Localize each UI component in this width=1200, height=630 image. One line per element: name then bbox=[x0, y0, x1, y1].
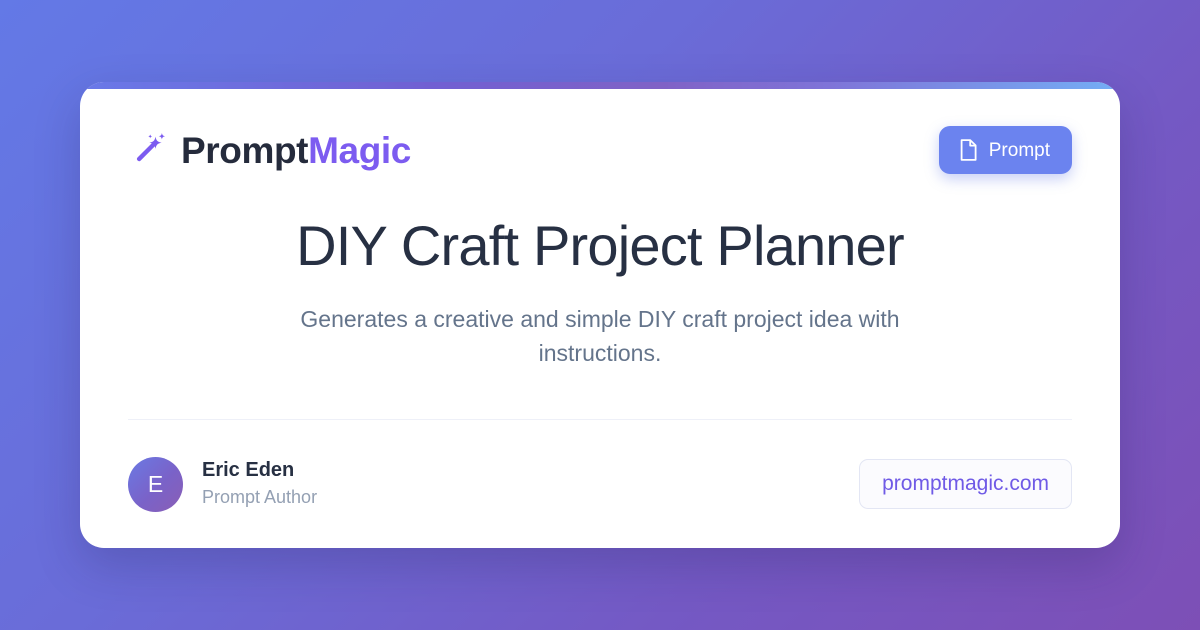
card-header: PromptMagic Prompt bbox=[80, 82, 1120, 174]
page-title: DIY Craft Project Planner bbox=[296, 215, 904, 278]
author-name: Eric Eden bbox=[202, 458, 317, 483]
brand-name-part-1: Prompt bbox=[181, 130, 308, 171]
brand-name-part-2: Magic bbox=[308, 130, 411, 171]
brand-logo[interactable]: PromptMagic bbox=[128, 130, 411, 170]
avatar: E bbox=[128, 457, 183, 512]
document-icon bbox=[959, 139, 978, 161]
prompt-card: PromptMagic Prompt DIY Craft Project Pla… bbox=[80, 82, 1120, 548]
prompt-button[interactable]: Prompt bbox=[939, 126, 1072, 174]
card-accent-bar bbox=[80, 82, 1120, 89]
card-main: DIY Craft Project Planner Generates a cr… bbox=[80, 174, 1120, 419]
page-subtitle: Generates a creative and simple DIY craf… bbox=[250, 302, 950, 370]
author-block: E Eric Eden Prompt Author bbox=[128, 457, 317, 512]
magic-wand-icon bbox=[128, 130, 168, 170]
brand-name: PromptMagic bbox=[181, 132, 411, 169]
site-url-pill[interactable]: promptmagic.com bbox=[859, 459, 1072, 508]
author-role: Prompt Author bbox=[202, 485, 317, 509]
card-footer: E Eric Eden Prompt Author promptmagic.co… bbox=[80, 420, 1120, 548]
author-text: Eric Eden Prompt Author bbox=[202, 458, 317, 509]
prompt-button-label: Prompt bbox=[989, 141, 1050, 160]
